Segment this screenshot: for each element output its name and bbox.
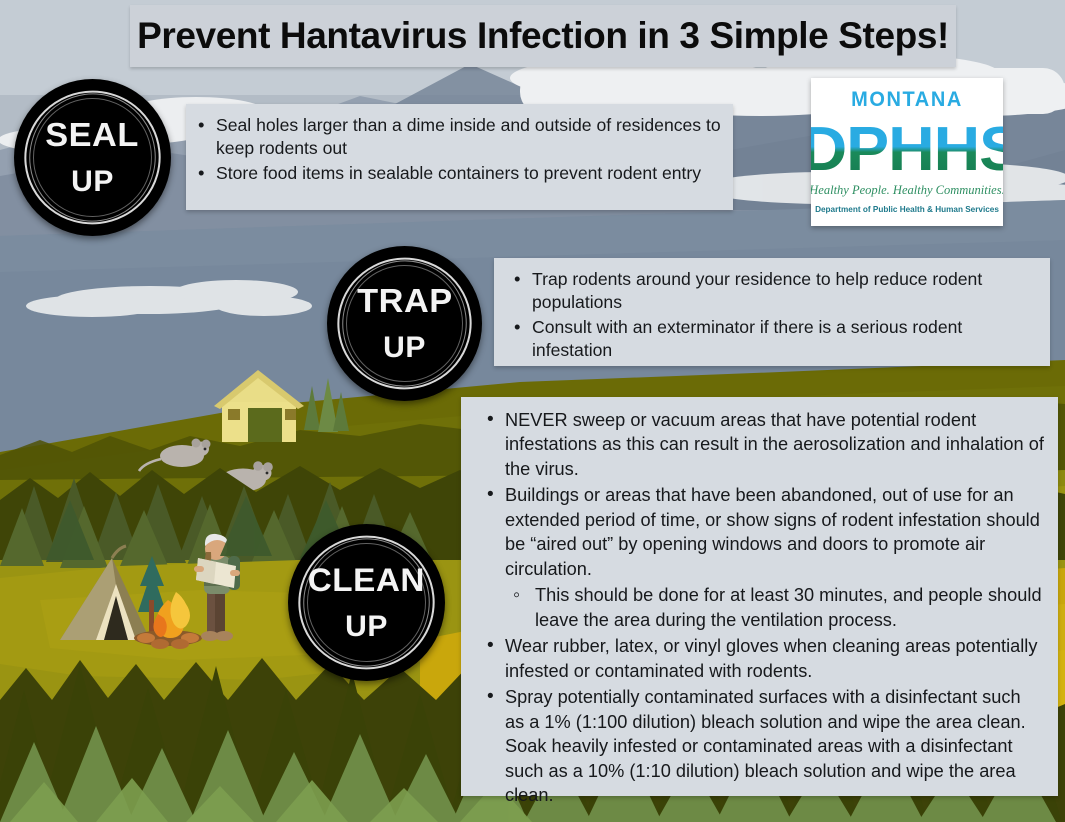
badge-ring-outer bbox=[18, 84, 168, 231]
badge-ring-inner bbox=[15, 80, 170, 235]
badge-label-line1: SEAL bbox=[46, 118, 140, 151]
infographic-poster: Prevent Hantavirus Infection in 3 Simple… bbox=[0, 0, 1065, 822]
logo-tagline-text: Healthy People. Healthy Communities. bbox=[811, 183, 1003, 197]
list-item: Consult with an exterminator if there is… bbox=[510, 316, 1038, 363]
panel-seal-up: Seal holes larger than a dime inside and… bbox=[186, 104, 733, 210]
panel-clean-up: NEVER sweep or vacuum areas that have po… bbox=[461, 397, 1058, 796]
badge-ring-middle bbox=[290, 525, 444, 680]
badge-ring-middle bbox=[329, 247, 480, 400]
badge-ring-inner bbox=[328, 247, 480, 399]
bullet-list-clean-up: NEVER sweep or vacuum areas that have po… bbox=[483, 408, 1044, 808]
list-item: Store food items in sealable containers … bbox=[194, 162, 721, 185]
list-item-sub: This should be done for at least 30 minu… bbox=[507, 583, 1044, 632]
badge-ring-outer bbox=[292, 529, 442, 676]
logo-department-text: Department of Public Health & Human Serv… bbox=[815, 205, 999, 214]
bullet-list-trap-up: Trap rodents around your residence to he… bbox=[510, 268, 1038, 363]
page-title: Prevent Hantavirus Infection in 3 Simple… bbox=[137, 15, 949, 57]
badge-label-line2: UP bbox=[345, 612, 388, 642]
logo-state-text: MONTANA bbox=[851, 87, 963, 111]
badge-label-line2: UP bbox=[383, 333, 426, 363]
poster-title-banner: Prevent Hantavirus Infection in 3 Simple… bbox=[130, 5, 956, 67]
list-item: Seal holes larger than a dime inside and… bbox=[194, 114, 721, 161]
badge-trap-up[interactable]: TRAP UP bbox=[327, 246, 482, 401]
badge-ring-middle bbox=[16, 80, 170, 235]
list-item: Buildings or areas that have been abando… bbox=[483, 483, 1044, 581]
bullet-list-seal-up: Seal holes larger than a dime inside and… bbox=[194, 114, 721, 185]
list-item: NEVER sweep or vacuum areas that have po… bbox=[483, 408, 1044, 481]
badge-label-line2: UP bbox=[71, 167, 114, 197]
list-item: Spray potentially contaminated surfaces … bbox=[483, 685, 1044, 807]
badge-ring-inner bbox=[289, 525, 444, 680]
badge-seal-up[interactable]: SEAL UP bbox=[14, 79, 171, 236]
list-item: Wear rubber, latex, or vinyl gloves when… bbox=[483, 634, 1044, 683]
badge-label-line1: CLEAN bbox=[308, 564, 425, 596]
panel-trap-up: Trap rodents around your residence to he… bbox=[494, 258, 1050, 366]
badge-clean-up[interactable]: CLEAN UP bbox=[288, 524, 445, 681]
montana-dphhs-logo: MONTANA DPHHS Healthy People. Healthy Co… bbox=[811, 78, 1003, 226]
badge-ring-outer bbox=[331, 251, 478, 396]
badge-label-line1: TRAP bbox=[357, 284, 453, 317]
list-item: Trap rodents around your residence to he… bbox=[510, 268, 1038, 315]
